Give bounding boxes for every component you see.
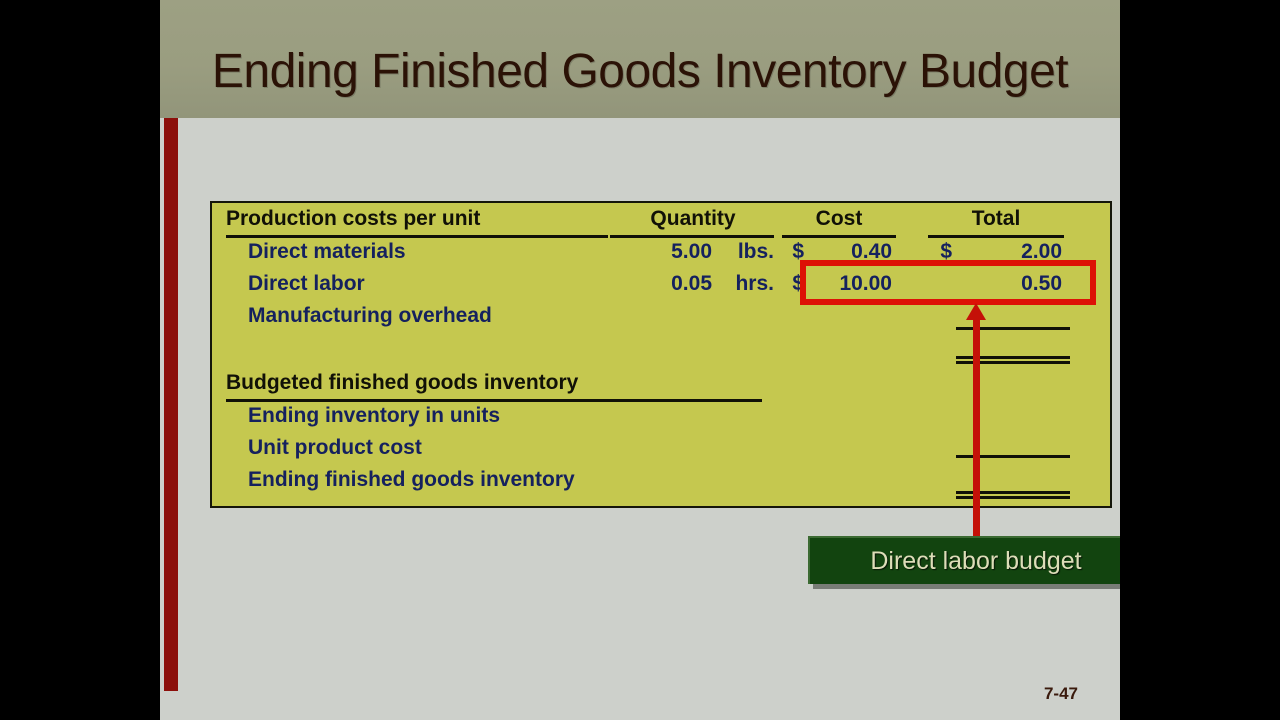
row-unit-direct-labor: hrs. [720,268,774,300]
highlight-box-direct-labor [800,260,1096,305]
callout-box-direct-labor-budget: Direct labor budget [808,536,1120,584]
row-label-direct-materials: Direct materials [248,236,406,268]
column-header-cost: Cost [784,203,894,235]
page-title: Ending Finished Goods Inventory Budget [160,48,1120,96]
row-label-ending-finished-goods-inventory: Ending finished goods inventory [248,464,575,496]
left-accent-bar [164,118,178,691]
section-one-header: Production costs per unit [226,203,480,235]
row-label-direct-labor: Direct labor [248,268,365,300]
row-label-manufacturing-overhead: Manufacturing overhead [248,300,492,332]
row-quantity-direct-materials: 5.00 [612,236,712,268]
column-header-quantity: Quantity [612,203,774,235]
callout-arrow-shaft [973,318,980,540]
section-two-header: Budgeted finished goods inventory [226,367,578,399]
row-label-ending-inventory-units: Ending inventory in units [248,400,500,432]
slide-canvas: Ending Finished Goods Inventory Budget P… [160,0,1120,720]
row-label-unit-product-cost: Unit product cost [248,432,422,464]
row-quantity-direct-labor: 0.05 [612,268,712,300]
row-unit-direct-materials: lbs. [720,236,774,268]
page-number: 7-47 [1044,684,1078,704]
table-header-row: Production costs per unit Quantity Cost … [212,203,1110,235]
column-header-total: Total [930,203,1062,235]
callout-label: Direct labor budget [810,538,1120,584]
slide-root: Ending Finished Goods Inventory Budget P… [0,0,1280,720]
